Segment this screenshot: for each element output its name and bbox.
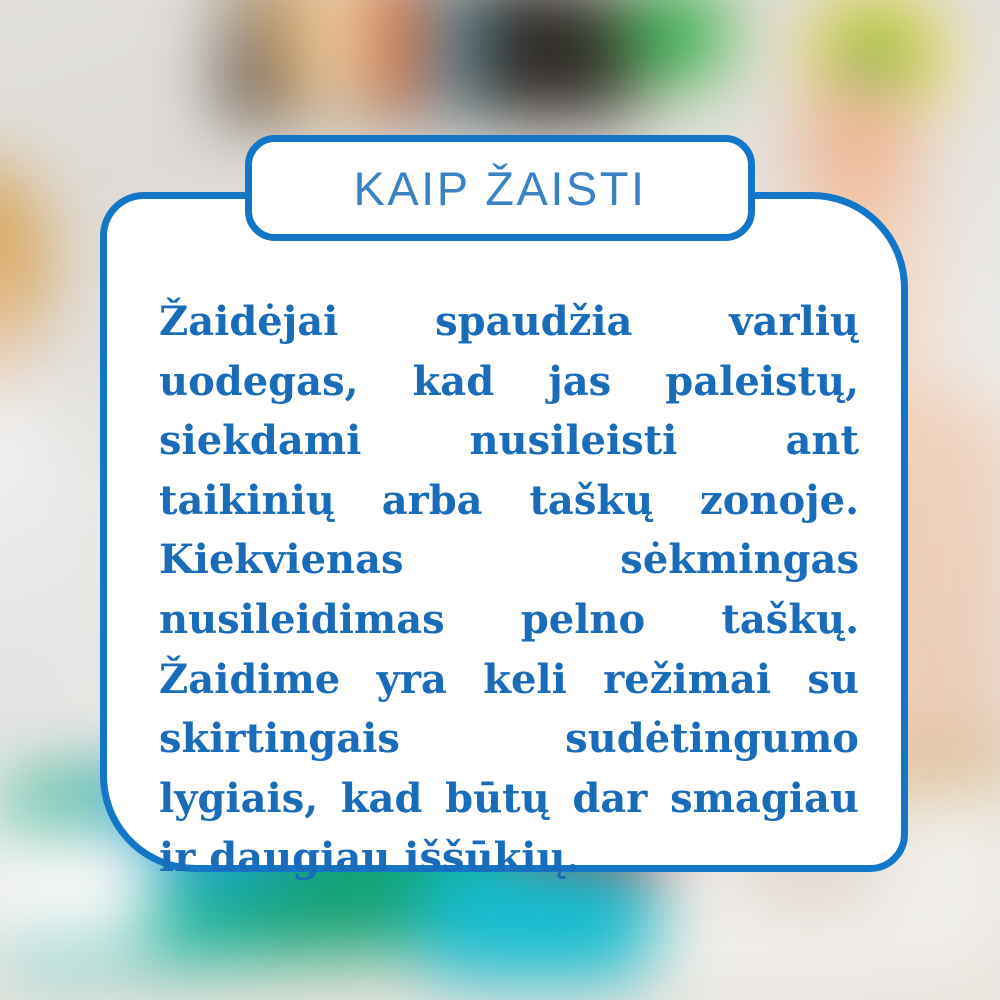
background-book bbox=[434, 0, 474, 118]
background-book bbox=[356, 0, 400, 110]
instructions-body-text: Žaidėjai spaudžia varlių uodegas, kad ja… bbox=[159, 292, 859, 888]
instructions-card: Žaidėjai spaudžia varlių uodegas, kad ja… bbox=[100, 192, 908, 872]
instructions-body-wrapper: Žaidėjai spaudžia varlių uodegas, kad ja… bbox=[159, 292, 859, 888]
background-shelf-shadow bbox=[480, 0, 640, 110]
background-child-shirt bbox=[0, 390, 60, 810]
title-badge: KAIP ŽAISTI bbox=[245, 135, 755, 241]
background-green-toy-center bbox=[642, 2, 706, 66]
background-book bbox=[275, 0, 321, 110]
poster-canvas: Žaidėjai spaudžia varlių uodegas, kad ja… bbox=[0, 0, 1000, 1000]
background-book bbox=[318, 0, 358, 115]
background-hand bbox=[798, 70, 908, 200]
page-title: KAIP ŽAISTI bbox=[353, 165, 646, 212]
background-book bbox=[398, 0, 436, 115]
